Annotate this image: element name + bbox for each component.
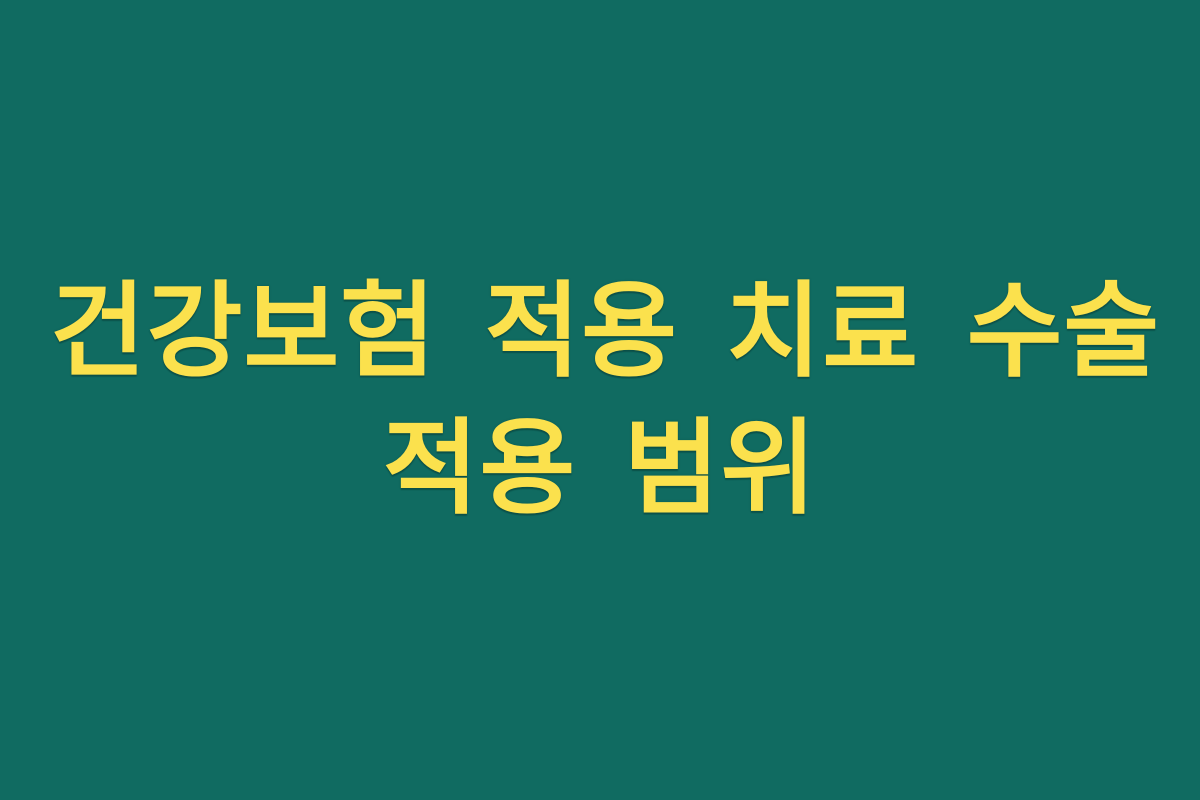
headline-line-2: 적용 범위 xyxy=(50,400,1150,537)
title-banner: 건강보험 적용 치료 수술 적용 범위 xyxy=(0,0,1200,800)
page-title: 건강보험 적용 치료 수술 적용 범위 xyxy=(50,263,1150,538)
headline-line-1: 건강보험 적용 치료 수술 xyxy=(50,263,1150,400)
